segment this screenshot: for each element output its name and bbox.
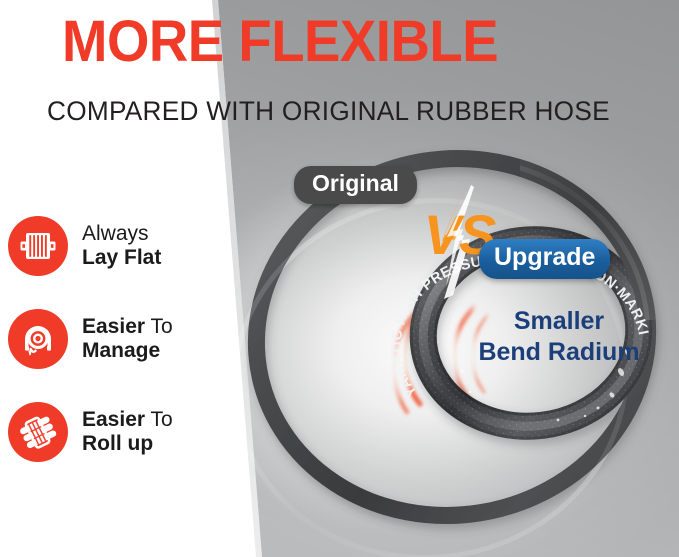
benefit-line1: Smaller (468, 306, 650, 337)
benefit-callout: Smaller Bend Radium (468, 306, 650, 368)
hose-reel-cart-icon (8, 309, 68, 369)
page-title: MORE FLEXIBLE (62, 13, 498, 71)
feature-line1: Always (82, 222, 149, 245)
original-badge: Original (294, 166, 417, 204)
feature-line2: Roll up (82, 432, 153, 455)
feature-line1: Easier (82, 408, 145, 431)
feature-item-manage: Easier To Manage (8, 308, 223, 370)
coiled-rope-icon (8, 402, 68, 462)
feature-label-roll-up: Easier To Roll up (82, 408, 173, 456)
feature-label-manage: Easier To Manage (82, 315, 173, 363)
feature-line1-suffix: To (145, 408, 173, 431)
product-feature-graphic: YAMATIC HIGH PRESSU SE·NON·MARKI MORE FL… (0, 0, 679, 557)
upgrade-badge: Upgrade (479, 239, 610, 279)
lightning-bolt-front (446, 193, 468, 287)
benefit-line2: Bend Radium (468, 337, 650, 368)
page-subtitle: COMPARED WITH ORIGINAL RUBBER HOSE (47, 96, 610, 126)
feature-list: Always Lay Flat (8, 215, 223, 463)
feature-line1: Easier (82, 315, 145, 338)
flat-hose-roll-icon (8, 216, 68, 276)
feature-item-roll-up: Easier To Roll up (8, 401, 223, 463)
feature-line1-suffix: To (145, 315, 173, 338)
feature-line2: Manage (82, 339, 160, 362)
feature-label-lay-flat: Always Lay Flat (82, 222, 161, 270)
feature-item-lay-flat: Always Lay Flat (8, 215, 223, 277)
feature-line2: Lay Flat (82, 246, 161, 269)
